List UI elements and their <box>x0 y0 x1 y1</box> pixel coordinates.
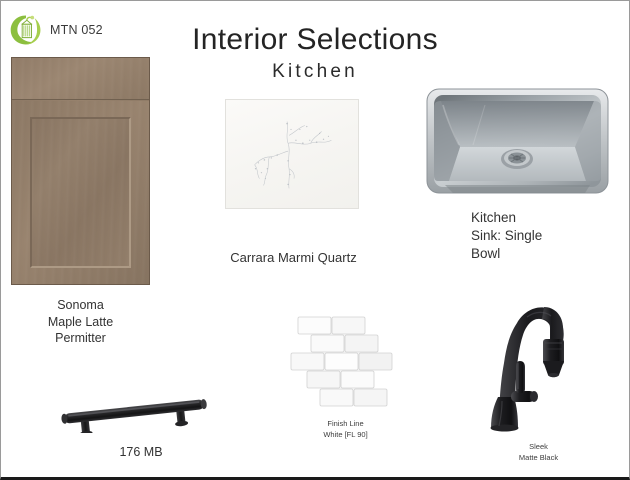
cabinet-door-sample <box>11 57 150 285</box>
bar-pull-image <box>51 373 226 433</box>
cabinet-door-front <box>12 101 149 284</box>
wood-grain-texture <box>32 119 129 266</box>
cabinet-hardware-caption: 176 MB <box>61 444 221 461</box>
backsplash-tile-caption: Finish Line White [FL 90] <box>293 419 398 441</box>
wood-grain-texture <box>12 58 149 99</box>
cabinet-drawer-front <box>12 58 149 100</box>
subway-tile-sample <box>287 313 402 411</box>
pulldown-faucet-image <box>471 283 601 438</box>
sink-caption: Kitchen Sink: Single Bowl <box>471 209 621 262</box>
interior-selections-board: MTN 052 Interior Selections Kitchen Sono… <box>0 0 630 480</box>
cabinet-recessed-panel <box>30 117 131 268</box>
faucet-caption: Sleek Matte Black <box>481 442 596 464</box>
cabinet-caption: Sonoma Maple Latte Permitter <box>11 297 150 347</box>
quartz-slab-sample <box>225 99 359 209</box>
page-title: Interior Selections <box>1 23 629 57</box>
stainless-sink-image <box>425 85 610 201</box>
quartz-veining <box>226 100 358 208</box>
countertop-caption: Carrara Marmi Quartz <box>196 249 391 266</box>
